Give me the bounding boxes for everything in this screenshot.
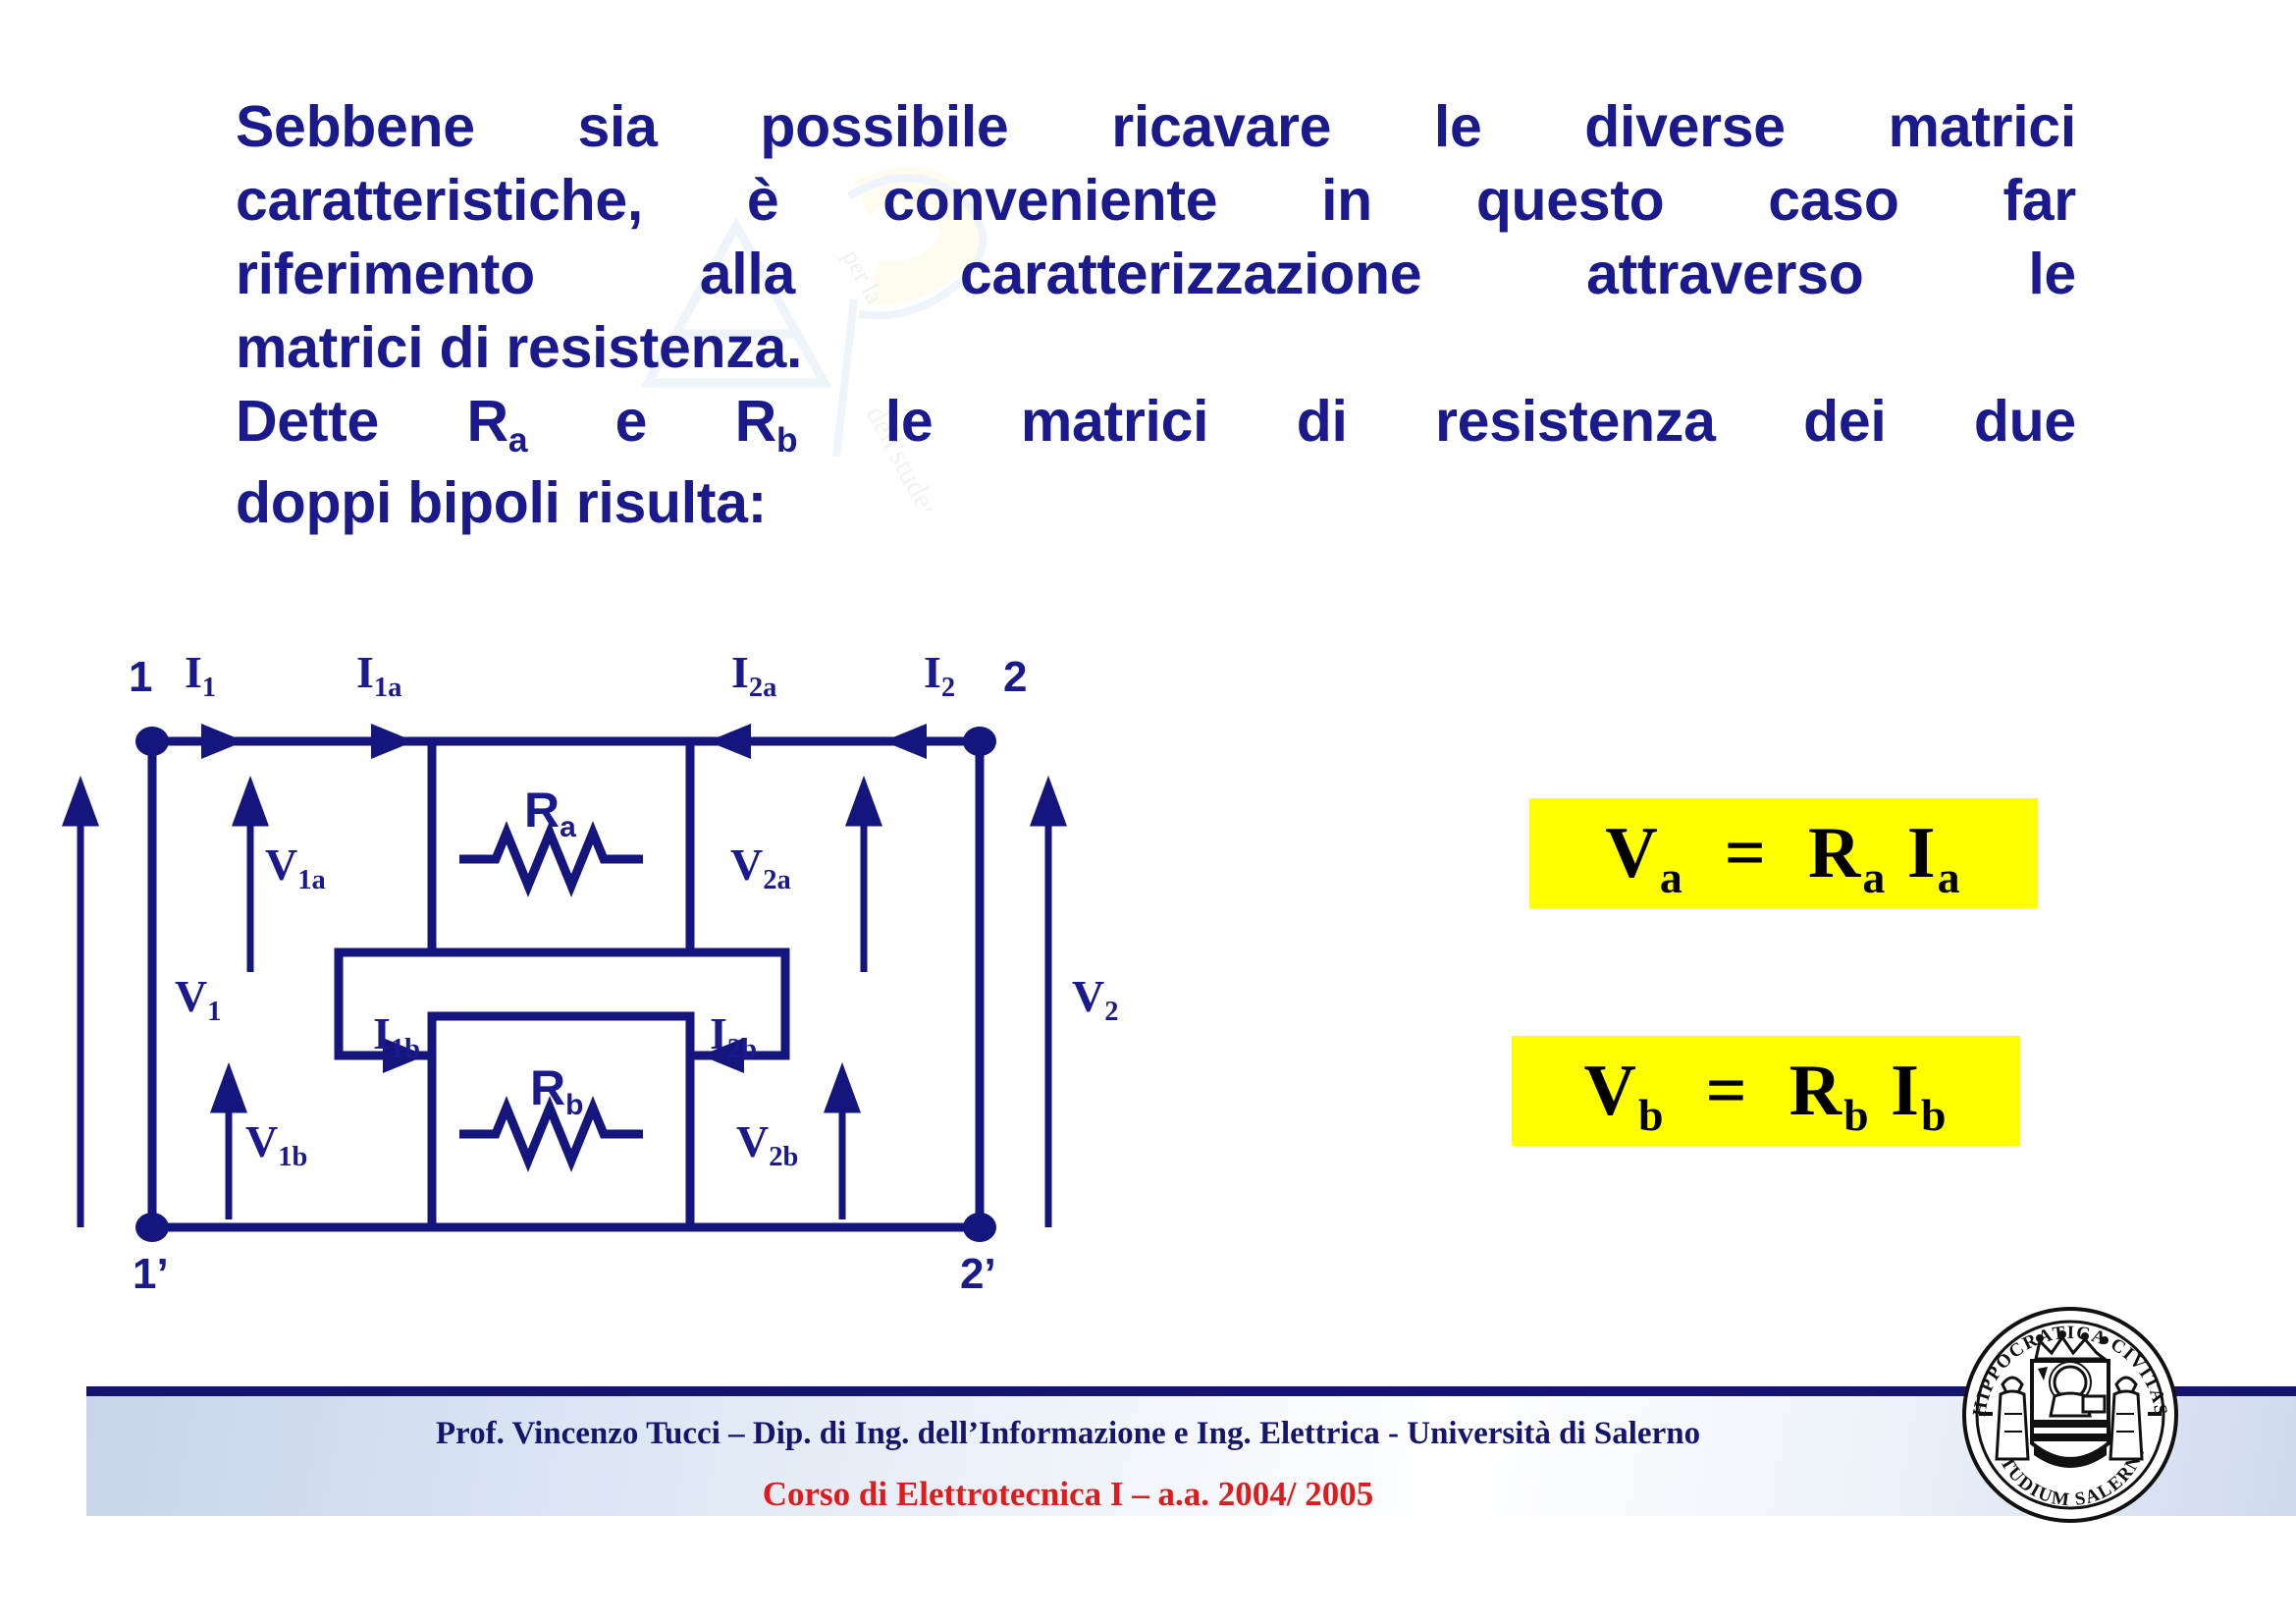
- circuit-diagram: 1 2 1’ 2’ I1 I1a I2a I2 I1b I2b V1 V1a V…: [0, 677, 1531, 1316]
- heading-word: matrici: [1021, 385, 1208, 466]
- heading-line-1: Sebbene sia possibile ricavare le divers…: [236, 90, 2076, 164]
- heading-word: in: [1321, 164, 1372, 238]
- heading-word: attraverso: [1586, 238, 1863, 311]
- heading-matrix-ra: Ra: [467, 385, 528, 466]
- heading-word: di: [1297, 385, 1348, 466]
- heading-line-2: caratteristiche, è conveniente in questo…: [236, 164, 2076, 238]
- heading-word: caratterizzazione: [960, 238, 1421, 311]
- heading-word: due: [1974, 385, 2076, 466]
- heading-word: far: [2002, 164, 2076, 238]
- equation-box-a: Va = Ra Ia: [1529, 798, 2038, 908]
- footer-course: Corso di Elettrotecnica I – a.a. 2004/ 2…: [86, 1475, 2050, 1514]
- heading-word: Dette: [236, 385, 379, 466]
- resistor-b-symbol: [459, 1108, 643, 1161]
- heading-word: diverse: [1584, 90, 1786, 164]
- heading-word: caso: [1768, 164, 1898, 238]
- heading-word: ricavare: [1111, 90, 1331, 164]
- heading-word: sia: [578, 90, 658, 164]
- block-label-rb: Rb: [530, 1063, 583, 1112]
- node-label-1: 1: [129, 656, 152, 699]
- university-seal-logo: HIPPOCRATICA CIVITAS STUDIUM SALERNI: [1961, 1306, 2179, 1524]
- arrow-i1a: [371, 724, 414, 759]
- heading-word: è: [747, 164, 779, 238]
- arrow-i2: [883, 724, 927, 759]
- heading-matrix-rb: Rb: [735, 385, 798, 466]
- heading-word: Sebbene: [236, 90, 475, 164]
- current-label-i1: I1: [185, 650, 216, 695]
- heading-word: alla: [700, 238, 795, 311]
- current-label-i1a: I1a: [356, 650, 401, 695]
- circuit-svg: [0, 677, 1531, 1316]
- voltage-label-v1b: V1b: [245, 1119, 307, 1164]
- block-b-outline: [432, 1016, 690, 1227]
- node-dot-2: [963, 727, 996, 756]
- block-a-outline: [432, 741, 690, 952]
- heading-word: le: [2028, 238, 2076, 311]
- node-dot-1-prime: [135, 1213, 169, 1242]
- voltage-label-v2a: V2a: [730, 842, 791, 888]
- slide-footer: Prof. Vincenzo Tucci – Dip. di Ing. dell…: [0, 1386, 2296, 1623]
- heading-word: caratteristiche,: [236, 164, 643, 238]
- voltage-label-v1a: V1a: [265, 842, 326, 888]
- resistor-a-symbol: [459, 833, 643, 886]
- voltage-label-v2b: V2b: [736, 1119, 798, 1164]
- heading-line-5: Dette Ra e Rb le matrici di resistenza d…: [236, 385, 2076, 466]
- current-label-i2: I2: [924, 650, 955, 695]
- heading-line-4: matrici di resistenza.: [236, 311, 2076, 385]
- node-dot-1: [135, 727, 169, 756]
- heading-line-6: doppi bipoli risulta:: [236, 466, 2076, 540]
- voltage-label-v2: V2: [1072, 974, 1119, 1019]
- heading-word: le: [1434, 90, 1482, 164]
- block-label-ra: Ra: [524, 785, 576, 835]
- voltage-label-v1: V1: [175, 974, 222, 1019]
- arrow-i2a: [708, 724, 751, 759]
- equation-box-b: Vb = Rb Ib: [1512, 1036, 2020, 1146]
- current-label-i2b: I2b: [710, 1011, 757, 1056]
- heading-word: questo: [1476, 164, 1665, 238]
- heading-word: le: [885, 385, 934, 466]
- heading-word: possibile: [760, 90, 1008, 164]
- heading-line-3: riferimento alla caratterizzazione attra…: [236, 238, 2076, 311]
- node-dot-2-prime: [963, 1213, 996, 1242]
- heading-word: matrici: [1889, 90, 2076, 164]
- heading-word: conveniente: [882, 164, 1217, 238]
- heading-word: riferimento: [236, 238, 535, 311]
- heading-word: dei: [1803, 385, 1886, 466]
- footer-attribution: Prof. Vincenzo Tucci – Dip. di Ing. dell…: [86, 1416, 2050, 1452]
- equation-b-text: Vb = Rb Ib: [1584, 1055, 1949, 1127]
- node-label-2: 2: [1003, 656, 1027, 699]
- current-label-i2a: I2a: [731, 650, 776, 695]
- heading-word: resistenza: [1435, 385, 1716, 466]
- node-label-1-prime: 1’: [133, 1253, 169, 1296]
- node-label-2-prime: 2’: [960, 1253, 996, 1296]
- slide-heading: Sebbene sia possibile ricavare le divers…: [236, 90, 2076, 540]
- equation-a-text: Va = Ra Ia: [1605, 817, 1961, 890]
- arrow-i1: [201, 724, 244, 759]
- current-label-i1b: I1b: [373, 1011, 420, 1056]
- heading-word: e: [615, 385, 648, 466]
